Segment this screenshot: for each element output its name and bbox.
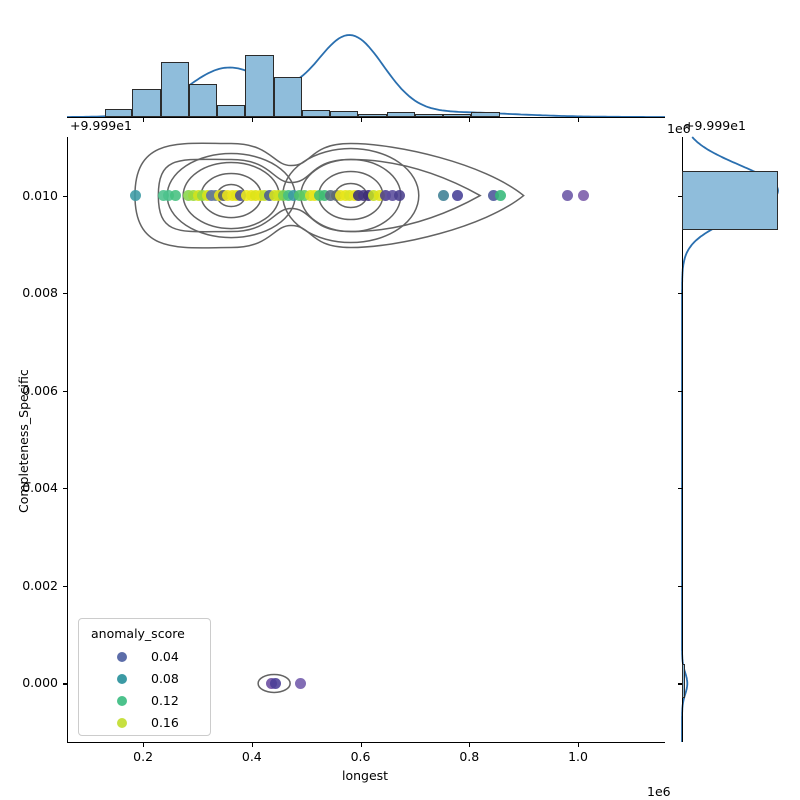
legend-entry[interactable]: 0.16 [79,713,210,733]
legend-label: 0.04 [151,649,179,664]
legend-entry[interactable]: 0.12 [79,691,210,711]
legend-swatch-icon [117,718,127,728]
right-marginal-bar [682,171,778,230]
right-marginal-bar [682,664,685,698]
right-marginal-y-tick-4 [678,293,682,294]
jointplot-figure: 1e6 +9.999e1 1e6 longest Completeness_Sp… [0,0,800,800]
legend-entry[interactable]: 0.04 [79,647,210,667]
right-marginal-y-offset-text: +9.999e1 [684,118,746,133]
legend-swatch-icon [117,652,127,662]
right-marginal-y-tick-3 [678,391,682,392]
legend-title: anomaly_score [91,626,185,641]
anomaly-score-legend[interactable]: anomaly_score 0.040.080.120.16 [78,618,211,736]
legend-entry[interactable]: 0.08 [79,669,210,689]
legend-label: 0.16 [151,715,179,730]
legend-label: 0.12 [151,693,179,708]
legend-swatch-icon [117,674,127,684]
legend-swatch-icon [117,696,127,706]
right-marginal-y-tick-1 [678,586,682,587]
legend-label: 0.08 [151,671,179,686]
right-marginal-y-tick-2 [678,488,682,489]
